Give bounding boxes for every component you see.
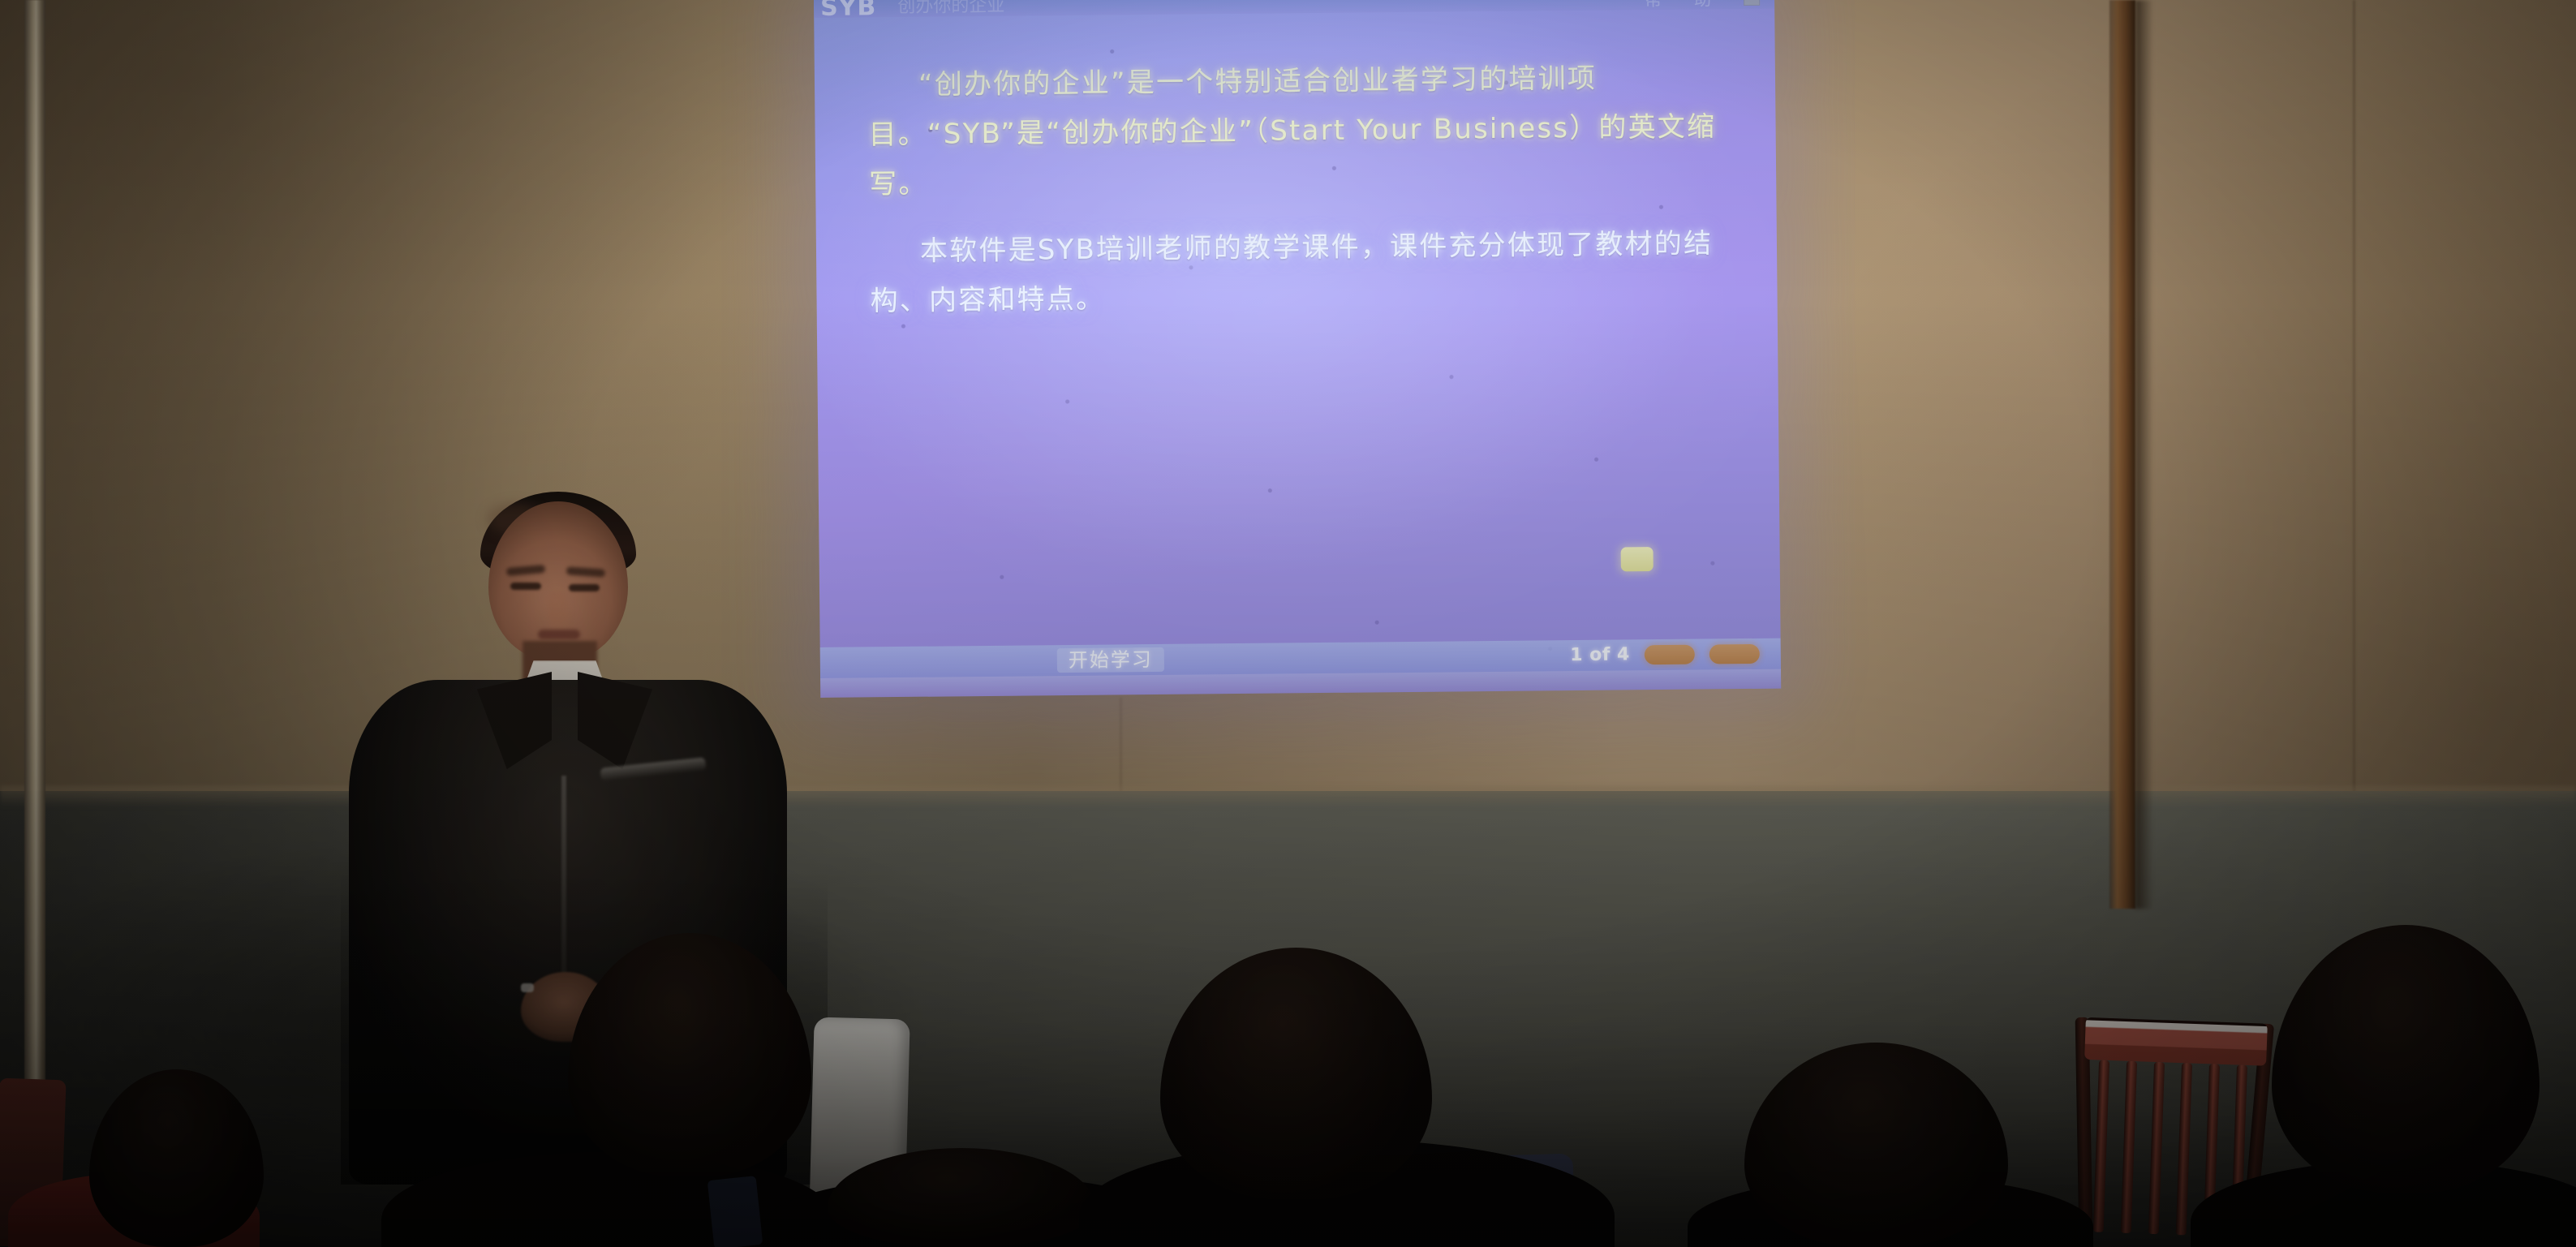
presenter-eye-right (569, 584, 600, 591)
next-button[interactable] (1709, 644, 1760, 664)
projection-screen: SYB 创办你的企业 帮 助 “创办你的企业”是一个特别适合创业者学习的培训项目… (814, 0, 1781, 698)
pipe-right (2109, 0, 2135, 909)
slide-paragraph-2: 本软件是SYB培训老师的教学课件，课件充分体现了教材的结构、内容和特点。 (870, 219, 1722, 326)
page-indicator: 1 of 4 (1570, 646, 1630, 664)
window-icon[interactable] (1744, 0, 1760, 6)
photo-scene: SYB 创办你的企业 帮 助 “创办你的企业”是一个特别适合创业者学习的培训项目… (0, 0, 2576, 1247)
menu-item-help-2[interactable]: 助 (1694, 0, 1711, 6)
start-learning-button[interactable]: 开始学习 (1057, 647, 1164, 673)
toolbar-right-group: 1 of 4 (1570, 644, 1760, 665)
presenter-ring (521, 983, 534, 992)
slide-brand-label: SYB (820, 0, 876, 15)
slide-titlebar: SYB 创办你的企业 帮 助 (814, 0, 1774, 18)
chair-slat (2148, 1062, 2165, 1234)
pipe-left (24, 0, 45, 1087)
slide-body: “创办你的企业”是一个特别适合创业者学习的培训项目。“SYB”是“创办你的企业”… (868, 53, 1722, 326)
presenter-mouth (538, 630, 580, 639)
slide-menu[interactable]: 帮 助 (1645, 0, 1760, 6)
presenter-eye-left (510, 583, 541, 590)
chair-slat (2176, 1063, 2192, 1235)
menu-item-help-1[interactable]: 帮 (1645, 0, 1662, 6)
presenter-nose (547, 591, 568, 626)
chair-top-rail (2084, 1017, 2268, 1066)
slide-paragraph-1: “创办你的企业”是一个特别适合创业者学习的培训项目。“SYB”是“创办你的企业”… (868, 53, 1722, 209)
wall-seam-right (2353, 0, 2355, 803)
prev-button[interactable] (1645, 645, 1695, 665)
projection-surface: SYB 创办你的企业 帮 助 “创办你的企业”是一个特别适合创业者学习的培训项目… (814, 0, 1781, 698)
note-badge[interactable] (1621, 547, 1654, 571)
chair-slat (2121, 1061, 2137, 1233)
pipe-right-shadow (2135, 0, 2153, 909)
attendee-necktie (707, 1176, 763, 1247)
slide-subtitle-label: 创办你的企业 (897, 0, 1004, 14)
chair-slat (2093, 1060, 2109, 1232)
